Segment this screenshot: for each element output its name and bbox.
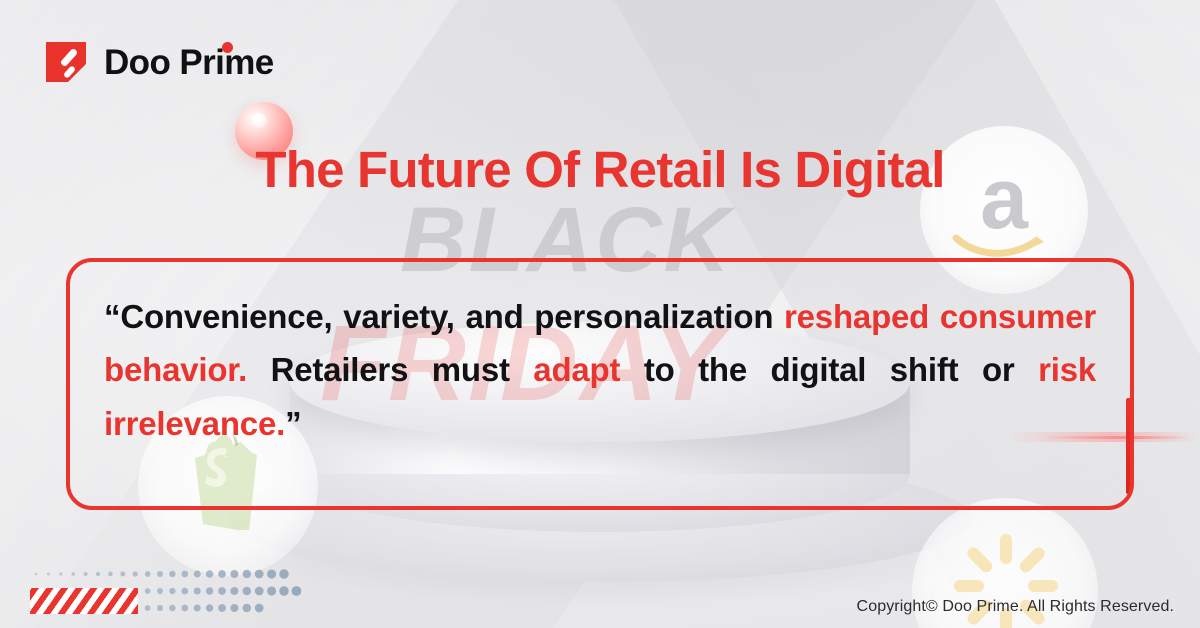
logo-wordmark-text: Doo Prime <box>104 43 274 82</box>
doo-prime-logo[interactable]: Doo Prime <box>44 40 274 84</box>
copyright-text: Copyright© Doo Prime. All Rights Reserve… <box>857 598 1174 616</box>
page-title: The Future Of Retail Is Digital <box>0 140 1200 199</box>
quote-segment-4: to the digital shift or <box>620 351 1038 388</box>
pink-sphere-highlight <box>252 113 267 128</box>
logo-accent-dot <box>222 42 233 53</box>
open-quote-mark: “ <box>104 298 120 335</box>
amazon-smile-arrow-icon <box>952 225 1056 259</box>
quote-segment-3: adapt <box>533 351 620 388</box>
quote-text: “Convenience, variety, and personalizati… <box>104 290 1096 450</box>
doo-prime-logo-icon <box>44 40 88 84</box>
quote-segment-0: Convenience, variety, and personalizatio… <box>120 298 784 335</box>
quote-card: “Convenience, variety, and personalizati… <box>66 258 1134 510</box>
logo-wordmark: Doo Prime <box>104 45 274 80</box>
promo-banner: BLACK FRIDAY a <box>0 0 1200 628</box>
close-quote-mark: ” <box>285 405 301 442</box>
red-hatched-bar-decoration <box>30 588 138 614</box>
quote-segment-2: Retailers must <box>247 351 533 388</box>
